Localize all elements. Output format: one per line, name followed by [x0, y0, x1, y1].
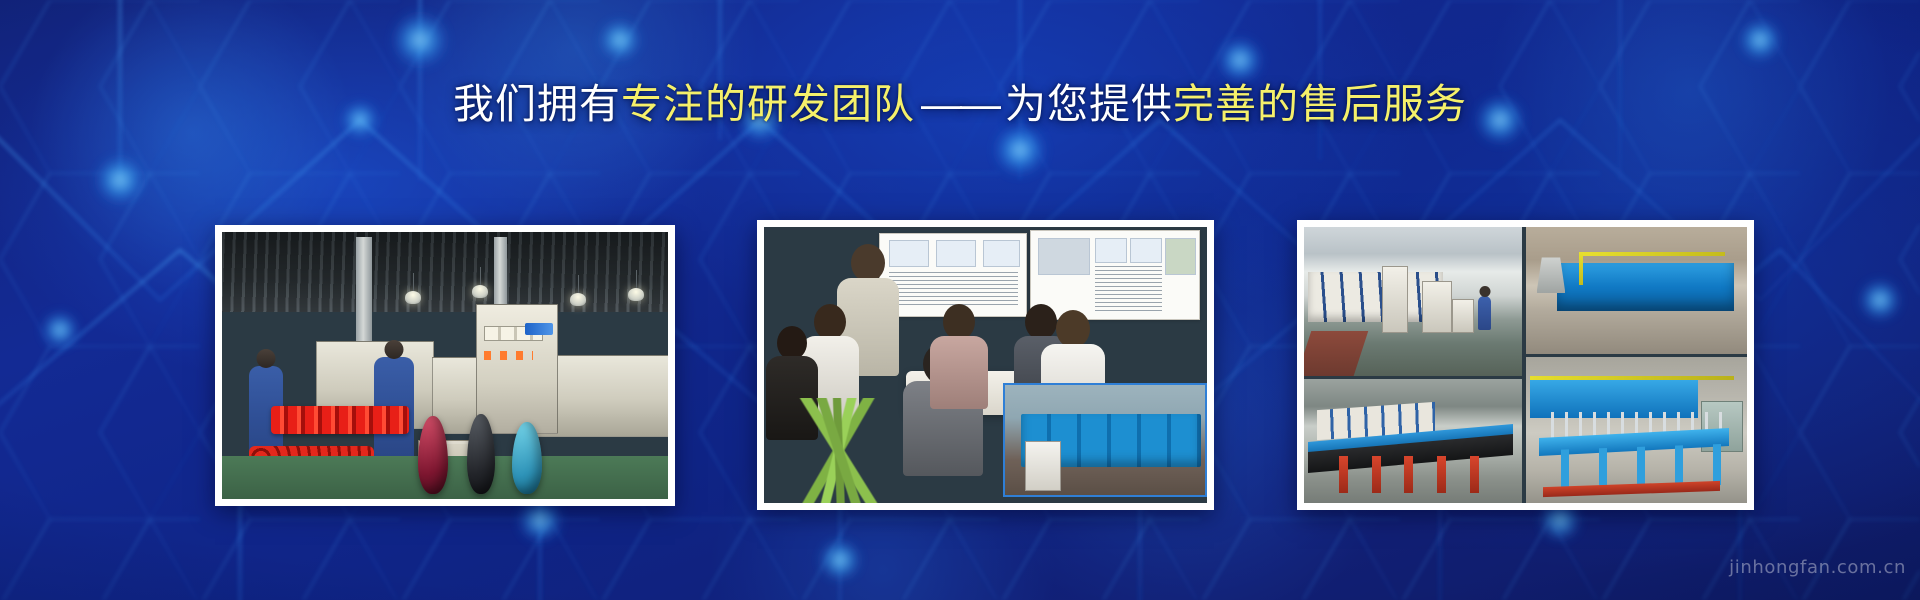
palm-plant: [773, 398, 906, 503]
board-tile: [1038, 238, 1090, 275]
board-text-lines: [889, 272, 1018, 308]
conveyor-leg: [1372, 456, 1381, 493]
headline-dash: ——: [915, 81, 1005, 127]
person-seated: [928, 304, 990, 414]
person-head: [777, 326, 807, 360]
conveyor-leg: [1437, 456, 1446, 493]
equipment-inset-image: [1003, 383, 1206, 497]
control-cabinet: [1025, 441, 1061, 492]
ceiling-lamp: [472, 285, 488, 298]
board-text-lines: [1095, 266, 1162, 312]
photo-equipment-collage-image: [1304, 227, 1747, 503]
control-cabinet: [1452, 299, 1474, 334]
ceiling-lamp: [405, 291, 421, 304]
photo-client-meeting[interactable]: [757, 220, 1214, 510]
collage-panel-bottom-left: [1304, 379, 1522, 503]
ceiling-lamp: [570, 293, 586, 306]
conveyor-line-scene: [1304, 379, 1522, 503]
factory-worker: [1478, 296, 1491, 330]
board-tile: [936, 240, 976, 267]
gas-pipe: [1530, 376, 1734, 380]
red-floor-strip: [1304, 331, 1368, 376]
gas-pipe: [1579, 252, 1725, 256]
panel-brand-label: [525, 323, 552, 335]
promo-banner: 我们拥有专注的研发团队——为您提供完善的售后服务: [0, 0, 1920, 600]
headline-segment-1: 我们拥有: [453, 81, 621, 127]
person-head: [943, 304, 975, 340]
headline-segment-4: 为您提供: [1005, 81, 1173, 127]
person-head: [851, 244, 885, 282]
headline-container: 我们拥有专注的研发团队——为您提供完善的售后服务: [0, 82, 1920, 127]
photo-production-line-image: [222, 232, 668, 499]
collage-panel-top-right: [1526, 227, 1748, 354]
person-head: [1056, 310, 1090, 348]
gas-pipe-riser: [1579, 252, 1583, 285]
board-tile: [1165, 238, 1196, 275]
ceiling-structure: [222, 232, 668, 312]
conveyor-leg: [1470, 456, 1479, 493]
photo-client-meeting-image: [764, 227, 1207, 503]
board-tile: [1130, 238, 1162, 263]
board-tile: [1095, 238, 1127, 263]
indicator-lights: [484, 351, 534, 360]
headline-segment-5: 完善的售后服务: [1173, 81, 1467, 127]
blue-oven-scene: [1526, 227, 1748, 354]
ceiling-lamp: [628, 288, 644, 301]
collage-panel-top-left: [1304, 227, 1522, 376]
control-panel: [476, 304, 558, 434]
collage-panel-bottom-right: [1526, 357, 1748, 503]
page-title: 我们拥有专注的研发团队——为您提供完善的售后服务: [453, 82, 1467, 127]
control-cabinet: [1382, 266, 1408, 334]
photo-production-line[interactable]: [215, 225, 675, 506]
watermark-url: jinhongfan.com.cn: [1729, 557, 1906, 578]
photo-equipment-collage[interactable]: [1297, 220, 1754, 510]
hanger-line-scene: [1526, 357, 1748, 503]
conveyor-leg: [1339, 456, 1348, 493]
control-cabinet: [1422, 281, 1452, 334]
photo-gallery: [0, 220, 1920, 505]
red-product-row: [271, 406, 409, 434]
board-tile: [983, 240, 1020, 267]
conveyor-leg: [1404, 456, 1413, 493]
headline-segment-2: 专注的研发团队: [621, 81, 915, 127]
person-body: [930, 336, 988, 409]
blue-curing-oven: [1557, 263, 1734, 311]
oven-line-scene: [1304, 227, 1522, 376]
